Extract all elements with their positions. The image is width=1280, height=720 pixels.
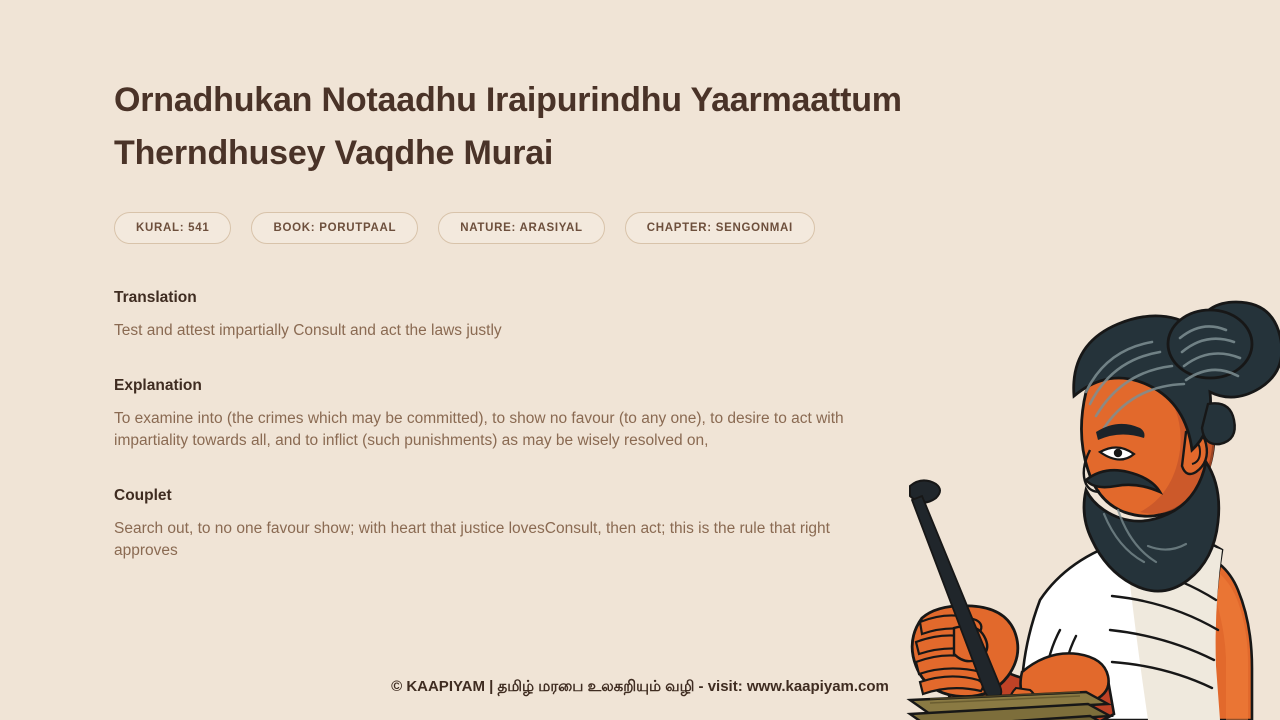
explanation-heading: Explanation (114, 377, 944, 395)
section-explanation: Explanation To examine into (the crimes … (114, 377, 944, 453)
couplet-heading: Couplet (114, 487, 944, 505)
pill-chapter[interactable]: CHAPTER: SENGONMAI (625, 212, 815, 244)
explanation-text: To examine into (the crimes which may be… (114, 408, 859, 453)
moustache-shape (1086, 470, 1160, 492)
section-couplet: Couplet Search out, to no one favour sho… (114, 487, 944, 563)
section-translation: Translation Test and attest impartially … (114, 289, 944, 343)
pill-nature[interactable]: NATURE: ARASIYAL (438, 212, 605, 244)
translation-heading: Translation (114, 289, 944, 307)
translation-text: Test and attest impartially Consult and … (114, 320, 859, 343)
face-shape (1081, 357, 1214, 516)
footer-credit: © KAAPIYAM | தமிழ் மரபை உலகறியும் வழி - … (0, 678, 1280, 697)
pill-book[interactable]: BOOK: PORUTPAAL (251, 212, 418, 244)
eyebrow-shape (1096, 424, 1145, 440)
pill-kural[interactable]: KURAL: 541 (114, 212, 231, 244)
beard-shape (1084, 462, 1219, 591)
couplet-text: Search out, to no one favour show; with … (114, 518, 864, 563)
hair-shape (1074, 302, 1280, 450)
kural-card-page: Ornadhukan Notaadhu Iraipurindhu Yaarmaa… (0, 0, 1280, 720)
thiruvalluvar-writing-illustration (890, 300, 1280, 720)
kural-content: Ornadhukan Notaadhu Iraipurindhu Yaarmaa… (114, 74, 944, 563)
page-title: Ornadhukan Notaadhu Iraipurindhu Yaarmaa… (114, 74, 944, 180)
metadata-pill-row: KURAL: 541 BOOK: PORUTPAAL NATURE: ARASI… (114, 212, 944, 244)
